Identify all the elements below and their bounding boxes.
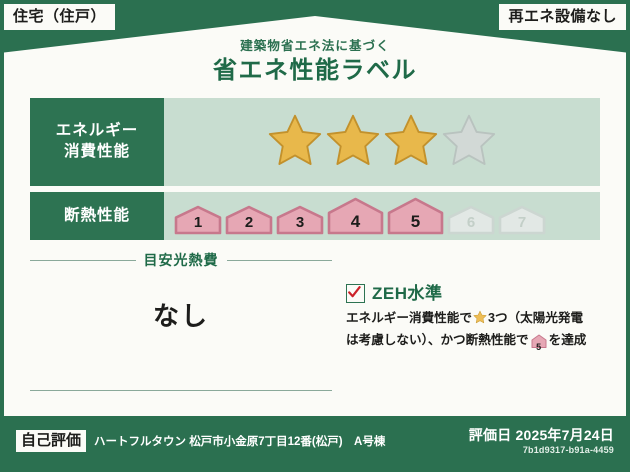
star-icon-empty [441,112,497,173]
title-block: 建築物省エネ法に基づく 省エネ性能ラベル [4,40,626,86]
self-evaluation-badge: 自己評価 [16,430,86,452]
star-rating [267,112,497,173]
zeh-title: ZEH水準 [372,285,443,302]
insulation-level-chip: 5 [387,197,444,235]
insulation-level-chip: 4 [327,197,384,235]
zeh-heading-row: ZEH水準 [346,284,608,303]
utility-cost-heading: 目安光熱費 [144,250,219,270]
row-energy-value [164,98,600,186]
energy-performance-label: 住宅（住戸） 再エネ設備なし 建築物省エネ法に基づく 省エネ性能ラベル エネルギ… [0,0,630,472]
insulation-level-chip: 6 [447,205,495,235]
rule-right [227,260,333,261]
zeh-desc-part3: は考慮しない）、かつ断熱性能で [346,333,529,347]
footer-right-group: 評価日 2025年7月24日 7b1d9317-b91a-4459 [469,428,614,455]
utility-cost-value: なし [30,296,332,333]
star-icon-filled [267,112,323,173]
property-address: ハートフルタウン 松戸市小金原7丁目12番(松戸) A号棟 [94,433,385,449]
row-insulation-key: 断熱性能 [30,192,164,240]
label-title: 省エネ性能ラベル [4,56,626,86]
zeh-desc-part4: を達成 [549,333,587,347]
row-energy-performance: エネルギー 消費性能 [30,98,600,186]
evaluation-date: 評価日 2025年7月24日 [469,428,614,443]
row-insulation-value: 1234567 [164,192,600,240]
star-icon-filled [383,112,439,173]
zeh-desc-part1: エネルギー消費性能で [346,311,472,325]
zeh-desc-part2: 3つ（太陽光発電 [488,311,583,325]
utility-cost-heading-row: 目安光熱費 [30,250,332,270]
zeh-block: ZEH水準 エネルギー消費性能で3つ（太陽光発電は考慮しない）、かつ断熱性能で5… [346,284,608,354]
check-icon [346,284,365,303]
badge-renewable-energy: 再エネ設備なし [499,4,626,30]
row-energy-key-line2: 消費性能 [64,142,130,163]
insulation-level-chip: 3 [276,205,324,235]
utility-cost-block: 目安光熱費 なし [30,250,332,333]
label-body-card: エネルギー 消費性能 断熱性能 1234567 目安 [4,90,626,416]
rule-left [30,260,136,261]
row-insulation-key-line1: 断熱性能 [64,206,130,227]
insulation-level-chip: 1 [174,205,222,235]
insulation-chip-inline-label: 5 [531,343,547,352]
insulation-level-scale: 1234567 [174,197,546,235]
insulation-chip-inline: 5 [531,334,547,355]
star-icon-filled [325,112,381,173]
row-energy-key-line1: エネルギー [56,121,139,142]
insulation-level-chip: 2 [225,205,273,235]
row-insulation-performance: 断熱性能 1234567 [30,192,600,240]
label-footer: 自己評価 ハートフルタウン 松戸市小金原7丁目12番(松戸) A号棟 評価日 2… [0,416,630,472]
row-energy-key: エネルギー 消費性能 [30,98,164,186]
performance-table: エネルギー 消費性能 断熱性能 1234567 [30,98,600,246]
label-subtitle: 建築物省エネ法に基づく [4,40,626,54]
footer-left-group: 自己評価 ハートフルタウン 松戸市小金原7丁目12番(松戸) A号棟 [16,430,385,452]
badge-building-type: 住宅（住戸） [4,4,115,30]
utility-cost-bottom-rule [30,390,332,391]
evaluation-id: 7b1d9317-b91a-4459 [469,445,614,455]
star-icon [473,313,487,327]
zeh-description: エネルギー消費性能で3つ（太陽光発電は考慮しない）、かつ断熱性能で5を達成 [346,309,608,354]
insulation-level-chip: 7 [498,205,546,235]
